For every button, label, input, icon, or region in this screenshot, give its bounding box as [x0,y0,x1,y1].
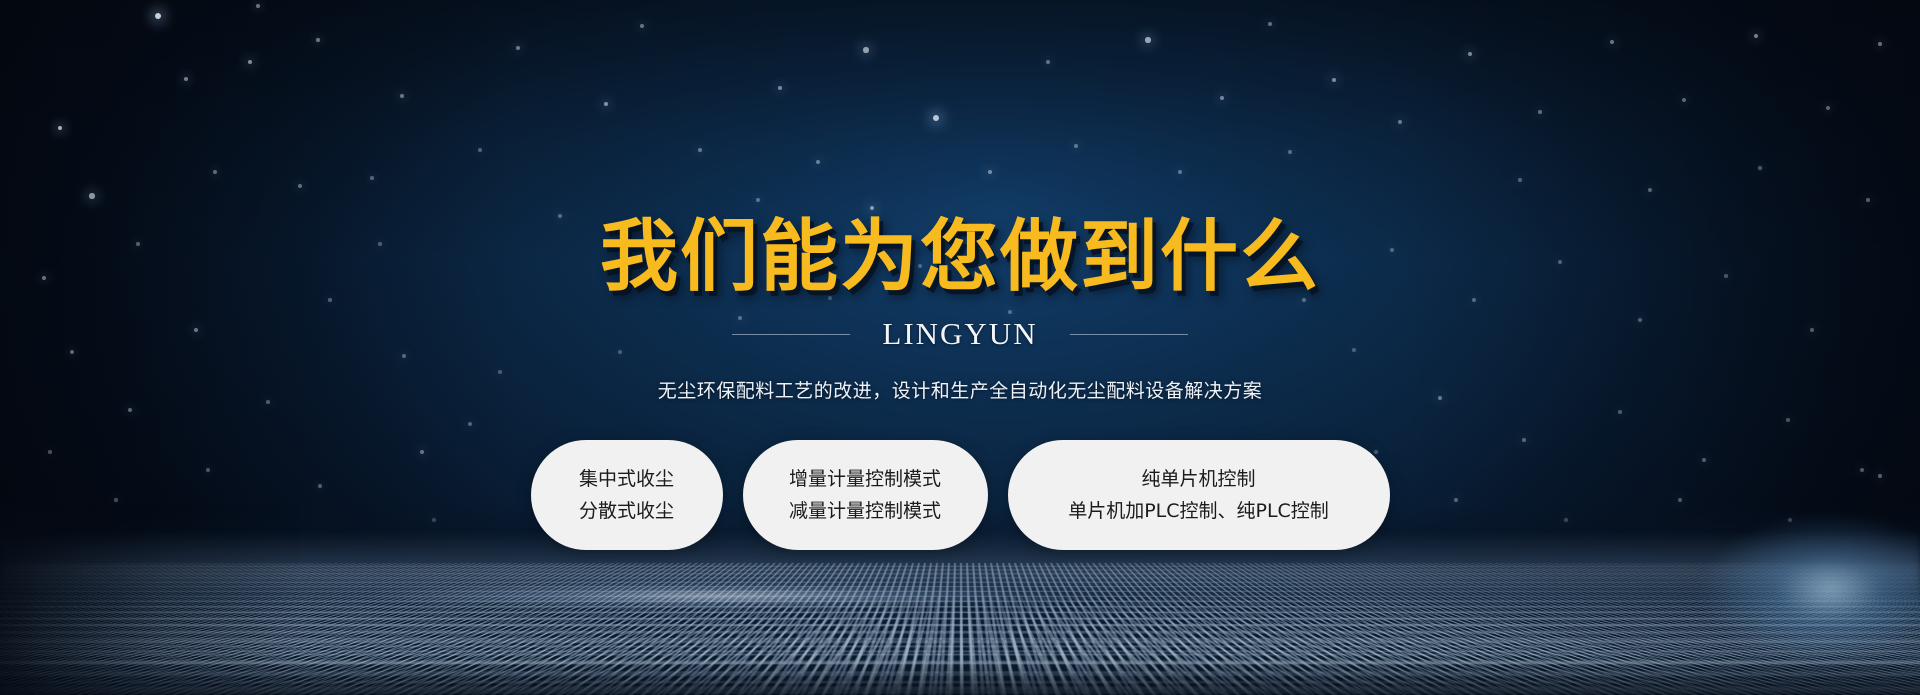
feature-card-line-2: 减量计量控制模式 [789,502,941,521]
feature-card-line-1: 集中式收尘 [579,470,674,489]
feature-card-line-2: 分散式收尘 [579,502,674,521]
feature-card-dust-collection[interactable]: 集中式收尘 分散式收尘 [531,440,723,550]
feature-card-line-2: 单片机加PLC控制、纯PLC控制 [1068,502,1329,521]
divider-line-left [732,334,850,335]
banner-content: 我们能为您做到什么 LINGYUN 无尘环保配料工艺的改进，设计和生产全自动化无… [0,0,1920,695]
brand-name: LINGYUN [882,316,1037,352]
hero-banner: 我们能为您做到什么 LINGYUN 无尘环保配料工艺的改进，设计和生产全自动化无… [0,0,1920,695]
brand-divider-row: LINGYUN [732,316,1187,352]
banner-tagline: 无尘环保配料工艺的改进，设计和生产全自动化无尘配料设备解决方案 [658,376,1263,403]
feature-card-control-system[interactable]: 纯单片机控制 单片机加PLC控制、纯PLC控制 [1008,440,1390,550]
feature-card-line-1: 增量计量控制模式 [789,470,941,489]
divider-line-right [1070,334,1188,335]
feature-card-line-1: 纯单片机控制 [1141,470,1255,489]
feature-card-metering-mode[interactable]: 增量计量控制模式 减量计量控制模式 [743,440,988,550]
page-title: 我们能为您做到什么 [600,218,1320,296]
feature-card-list: 集中式收尘 分散式收尘 增量计量控制模式 减量计量控制模式 纯单片机控制 单片机… [531,440,1390,550]
